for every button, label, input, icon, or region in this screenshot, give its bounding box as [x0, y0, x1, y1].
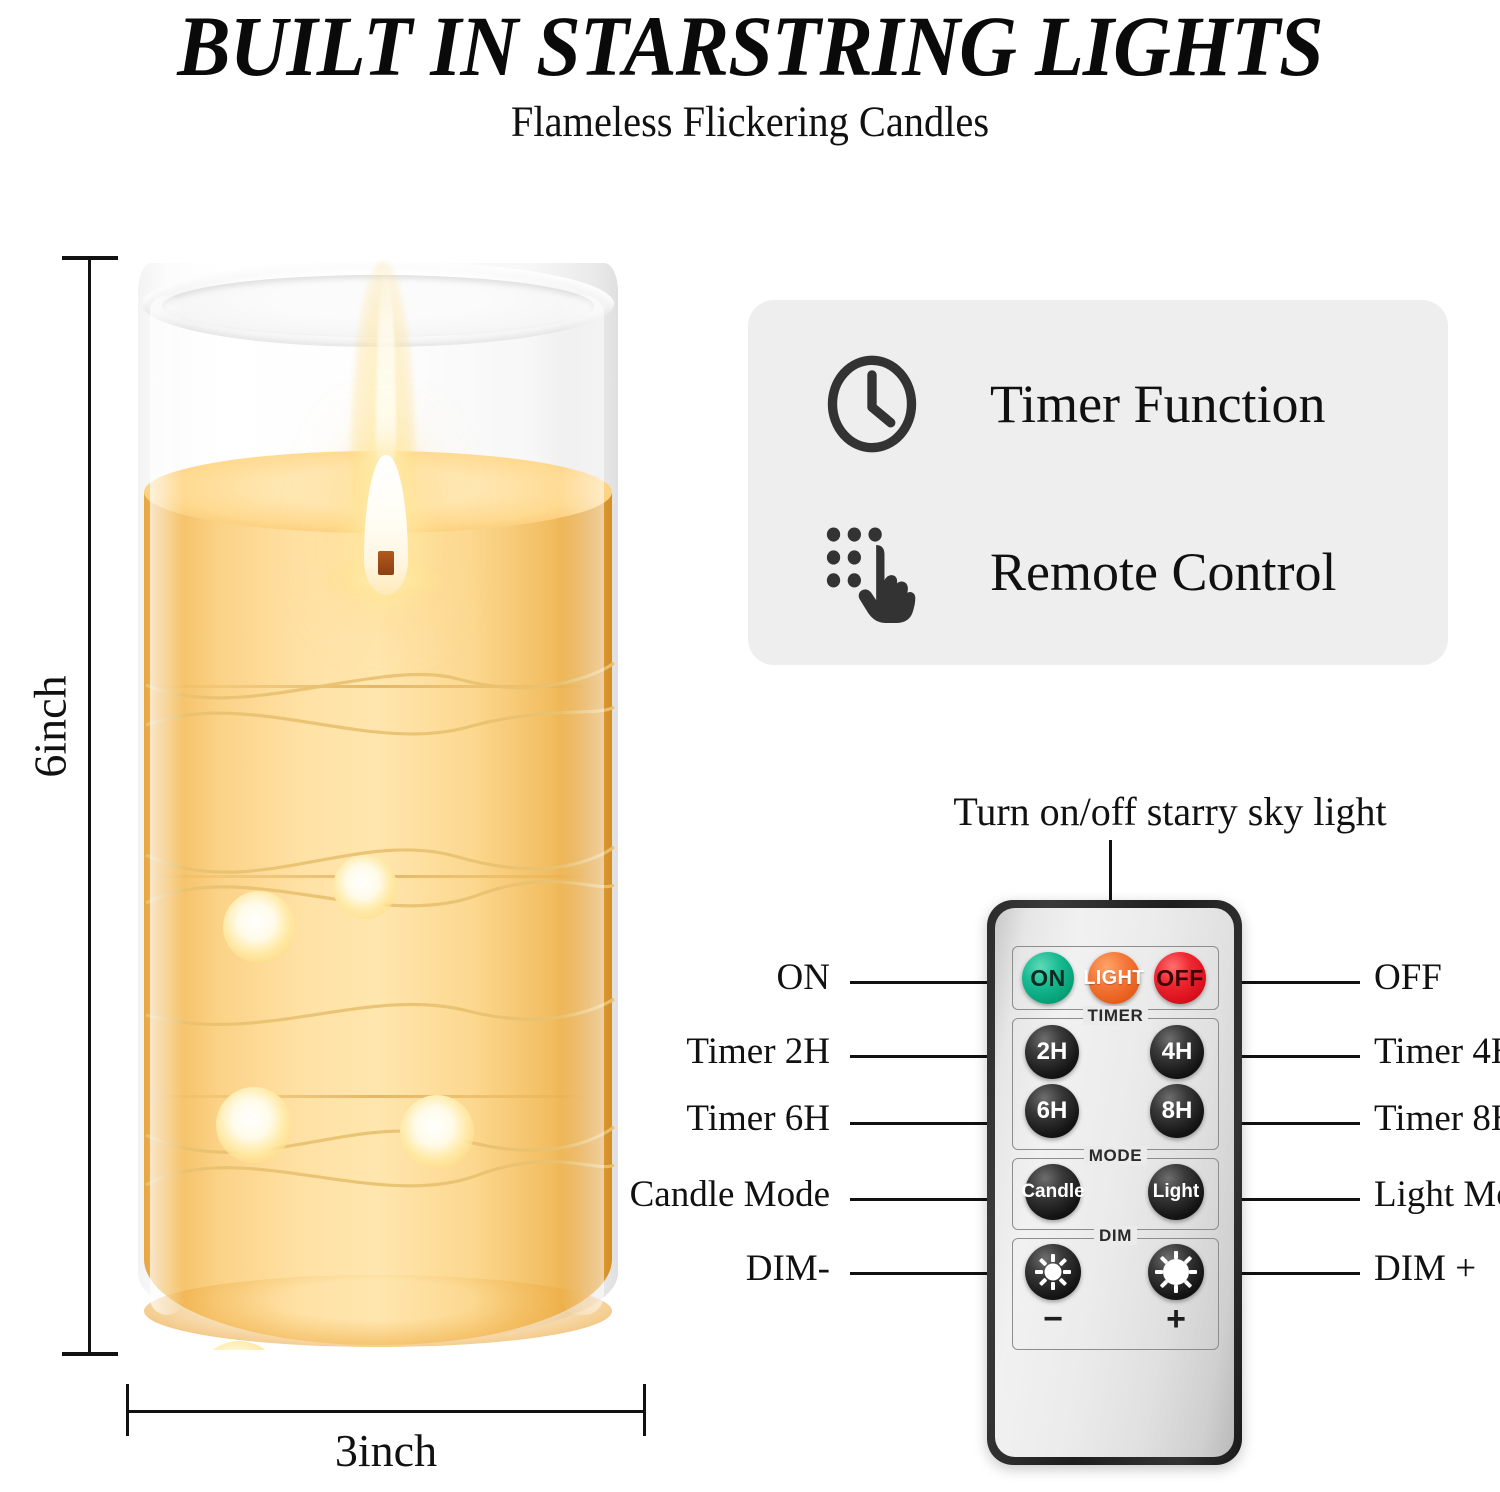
timer-2h-button[interactable]: 2H [1025, 1025, 1079, 1079]
timer-group-label: TIMER [1013, 1006, 1218, 1026]
leader-line-light-mode [1238, 1198, 1360, 1201]
dim-plus-label: + [1148, 1300, 1204, 1339]
light-button[interactable]: LIGHT [1088, 952, 1140, 1004]
feature-card: Timer Function Remote Contr [748, 300, 1448, 665]
timer-8h-button[interactable]: 8H [1150, 1084, 1204, 1138]
leader-line-dim-plus [1238, 1272, 1360, 1275]
led-bulb [400, 1095, 474, 1169]
dim-plus-button[interactable] [1148, 1244, 1204, 1300]
off-button[interactable]: OFF [1154, 952, 1206, 1004]
leader-line-timer-4h [1238, 1055, 1360, 1058]
feature-label-remote: Remote Control [990, 541, 1336, 603]
remote-control-body: ON LIGHT OFF TIMER 2H 4H 6H 8H MODE [987, 900, 1242, 1465]
leader-line-timer-6h [850, 1122, 992, 1125]
callout-label-timer-6h: Timer 6H [500, 1097, 830, 1140]
remote-diagram: Turn on/off starry sky light ON Timer 2H… [690, 780, 1500, 1480]
callout-label-dim-plus: DIM + [1374, 1247, 1476, 1290]
infographic-page: BUILT IN STARSTRING LIGHTS Flameless Fli… [0, 0, 1500, 1492]
dim-minus-label: − [1025, 1300, 1081, 1339]
light-mode-button[interactable]: Light [1148, 1164, 1204, 1220]
callout-label-light-mode: Light Mode [1374, 1173, 1500, 1216]
led-bulb [223, 891, 295, 963]
clock-icon [816, 348, 928, 460]
sun-large-icon [1156, 1252, 1196, 1292]
callout-label-timer-2h: Timer 2H [500, 1030, 830, 1073]
callout-starry-sky-light: Turn on/off starry sky light [890, 788, 1450, 835]
leader-line-on [850, 981, 992, 984]
callout-label-timer-4h: Timer 4H [1374, 1030, 1500, 1073]
callout-label-dim-minus: DIM- [500, 1247, 830, 1290]
callout-label-timer-8h: Timer 8H [1374, 1097, 1500, 1140]
wax-seam [148, 685, 608, 688]
led-bulb [216, 1087, 292, 1163]
page-subtitle: Flameless Flickering Candles [45, 98, 1455, 147]
on-button[interactable]: ON [1022, 952, 1074, 1004]
leader-line-off [1238, 981, 1360, 984]
leader-line-dim-minus [850, 1272, 992, 1275]
page-title: BUILT IN STARSTRING LIGHTS [53, 0, 1448, 96]
timer-group-label-text: TIMER [1083, 1006, 1149, 1025]
led-bulb [333, 855, 397, 919]
height-dimension-line [88, 256, 91, 1356]
timer-4h-button[interactable]: 4H [1150, 1025, 1204, 1079]
height-dimension-label: 6inch [24, 667, 77, 787]
dim-minus-button[interactable] [1025, 1244, 1081, 1300]
feature-label-timer: Timer Function [990, 373, 1326, 435]
dim-group-label: DIM [1013, 1226, 1218, 1246]
width-dimension-line [126, 1410, 646, 1413]
dim-group-label-text: DIM [1094, 1226, 1137, 1245]
remote-hand-icon [816, 516, 928, 628]
width-dimension-label: 3inch [126, 1424, 646, 1477]
callout-label-on: ON [500, 956, 830, 999]
callout-label-off: OFF [1374, 956, 1442, 999]
mode-group-label-text: MODE [1084, 1146, 1147, 1165]
callout-label-candle-mode: Candle Mode [500, 1173, 830, 1216]
leader-line-timer-2h [850, 1055, 992, 1058]
mode-group-label: MODE [1013, 1146, 1218, 1166]
timer-6h-button[interactable]: 6H [1025, 1084, 1079, 1138]
candle-wick [378, 551, 394, 575]
height-dimension-cap-top [62, 256, 118, 260]
feature-item-remote: Remote Control [816, 516, 1336, 628]
sun-small-icon [1033, 1252, 1073, 1292]
candle-mode-button[interactable]: Candle [1025, 1164, 1081, 1220]
height-dimension-cap-bottom [62, 1352, 118, 1356]
leader-line-timer-8h [1238, 1122, 1360, 1125]
leader-line-candle-mode [850, 1198, 992, 1201]
remote-faceplate: ON LIGHT OFF TIMER 2H 4H 6H 8H MODE [995, 908, 1234, 1457]
feature-item-timer: Timer Function [816, 348, 1326, 460]
